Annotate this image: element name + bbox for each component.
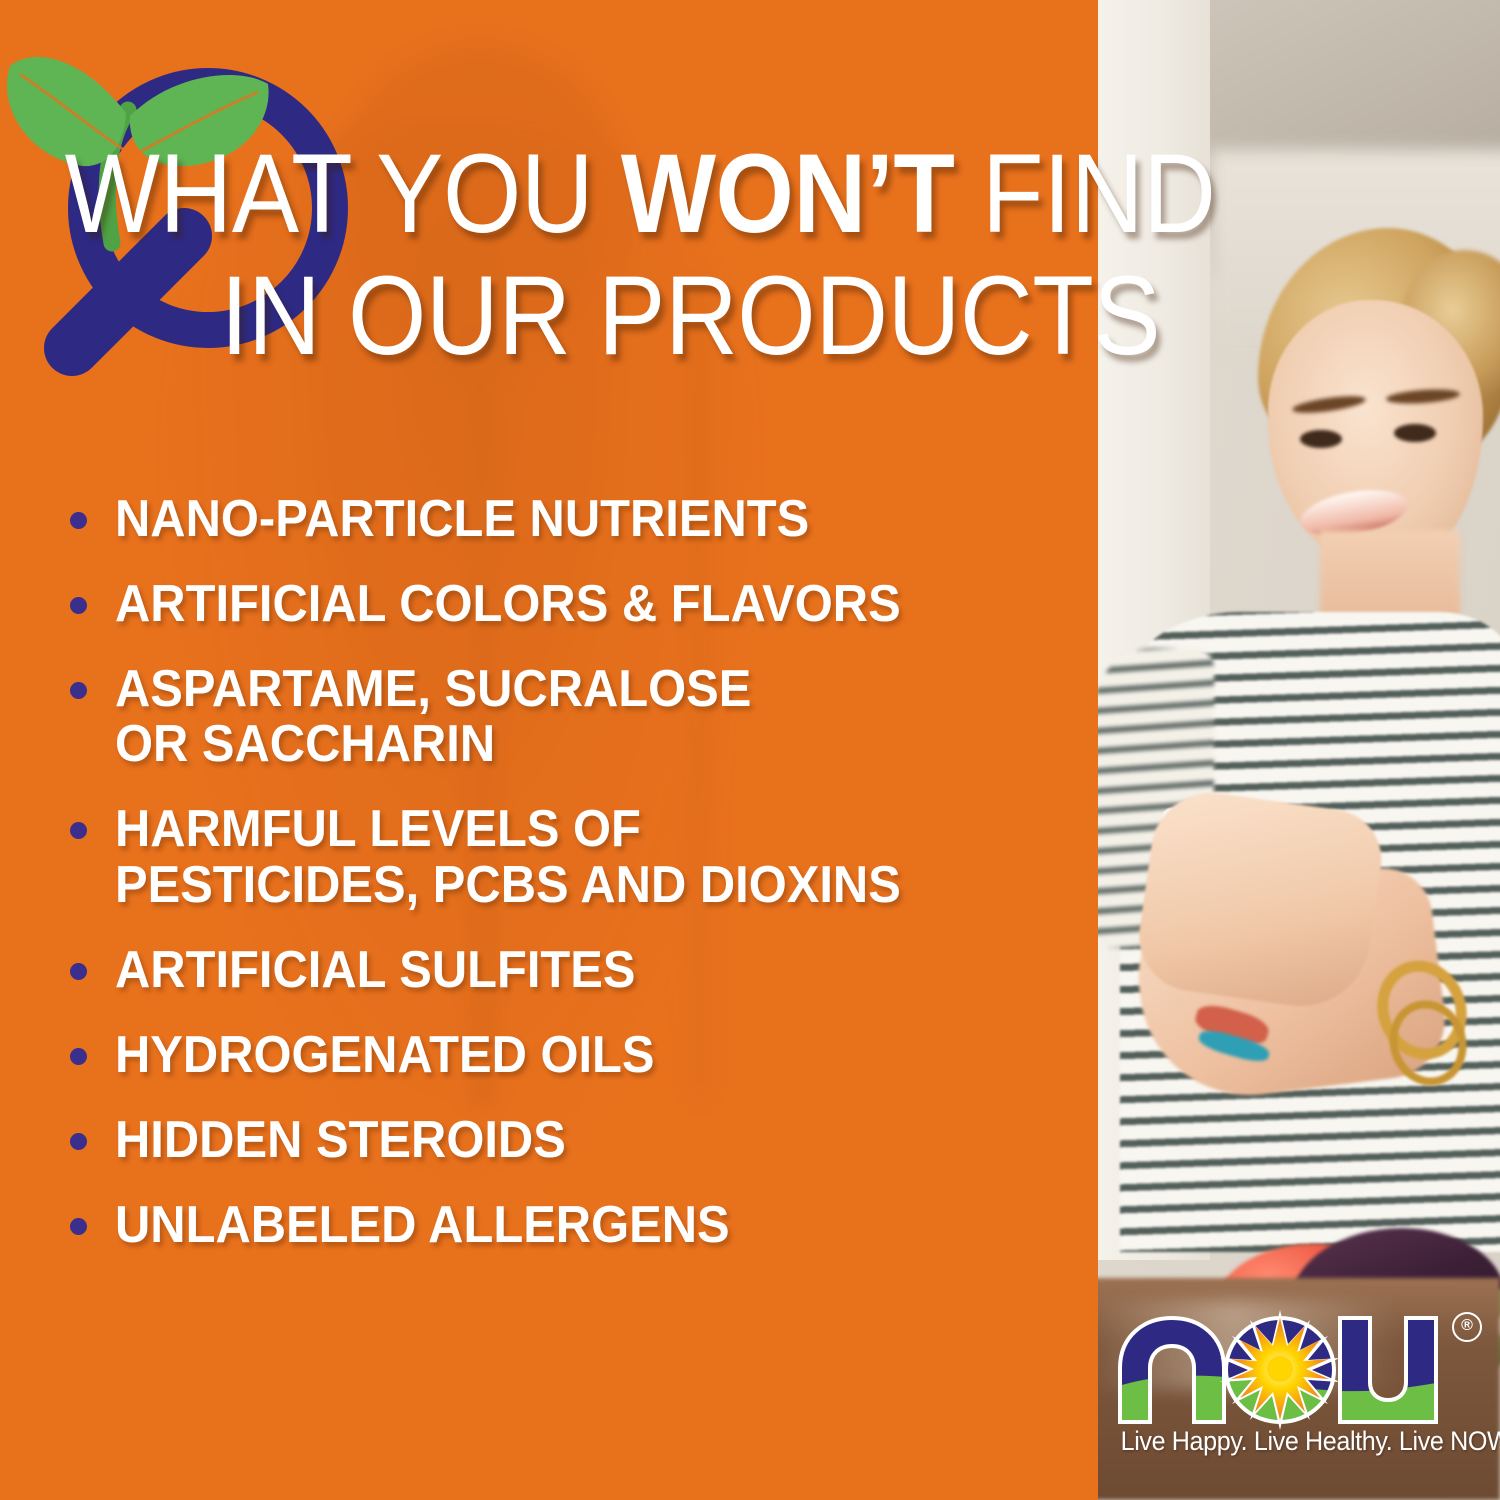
- list-item-label: NANO-PARTICLE NUTRIENTS: [115, 492, 809, 547]
- exclusions-list: NANO-PARTICLE NUTRIENTS ARTIFICIAL COLOR…: [70, 492, 1090, 1283]
- list-item: ASPARTAME, SUCRALOSE OR SACCHARIN: [70, 662, 1090, 772]
- headline-line-1: WHAT YOU WON’T FIND: [0, 140, 1323, 248]
- list-item: HARMFUL LEVELS OF PESTICIDES, PCBS AND D…: [70, 802, 1090, 912]
- registered-trademark-icon: ®: [1452, 1312, 1482, 1342]
- sun-core: [1267, 1356, 1293, 1382]
- bullet-dot-icon: [70, 822, 87, 839]
- now-brand-logo: [1112, 1310, 1452, 1430]
- list-item-label: HARMFUL LEVELS OF PESTICIDES, PCBS AND D…: [115, 802, 901, 912]
- bullet-dot-icon: [70, 597, 87, 614]
- eye-left: [1300, 430, 1342, 448]
- list-item: ARTIFICIAL SULFITES: [70, 943, 1090, 998]
- headline-line-2: IN OUR PRODUCTS: [0, 262, 1323, 370]
- brand-tagline: Live Happy. Live Healthy. Live NOW.: [1121, 1426, 1456, 1457]
- bullet-dot-icon: [70, 963, 87, 980]
- headline-wont: WON’T: [621, 131, 955, 256]
- list-item-label: ASPARTAME, SUCRALOSE OR SACCHARIN: [115, 662, 751, 772]
- list-item-label: ARTIFICIAL COLORS & FLAVORS: [115, 577, 901, 632]
- headline-what-you: WHAT YOU: [65, 131, 621, 256]
- hand: [1132, 785, 1388, 1015]
- list-item-label: HIDDEN STEROIDS: [115, 1113, 566, 1168]
- bullet-dot-icon: [70, 512, 87, 529]
- list-item-label: ARTIFICIAL SULFITES: [115, 943, 635, 998]
- list-item-label: UNLABELED ALLERGENS: [115, 1198, 730, 1253]
- list-item: HIDDEN STEROIDS: [70, 1113, 1090, 1168]
- list-item: NANO-PARTICLE NUTRIENTS: [70, 492, 1090, 547]
- infographic-canvas: WHAT YOU WON’T FIND IN OUR PRODUCTS NANO…: [0, 0, 1500, 1500]
- list-item-label: HYDROGENATED OILS: [115, 1028, 655, 1083]
- bullet-dot-icon: [70, 1218, 87, 1235]
- headline-find: FIND: [954, 131, 1215, 256]
- bullet-dot-icon: [70, 1133, 87, 1150]
- list-item: ARTIFICIAL COLORS & FLAVORS: [70, 577, 1090, 632]
- page-title: WHAT YOU WON’T FIND IN OUR PRODUCTS: [0, 140, 1470, 369]
- bullet-dot-icon: [70, 682, 87, 699]
- list-item: UNLABELED ALLERGENS: [70, 1198, 1090, 1253]
- eye-right: [1394, 424, 1436, 442]
- bullet-dot-icon: [70, 1048, 87, 1065]
- list-item: HYDROGENATED OILS: [70, 1028, 1090, 1083]
